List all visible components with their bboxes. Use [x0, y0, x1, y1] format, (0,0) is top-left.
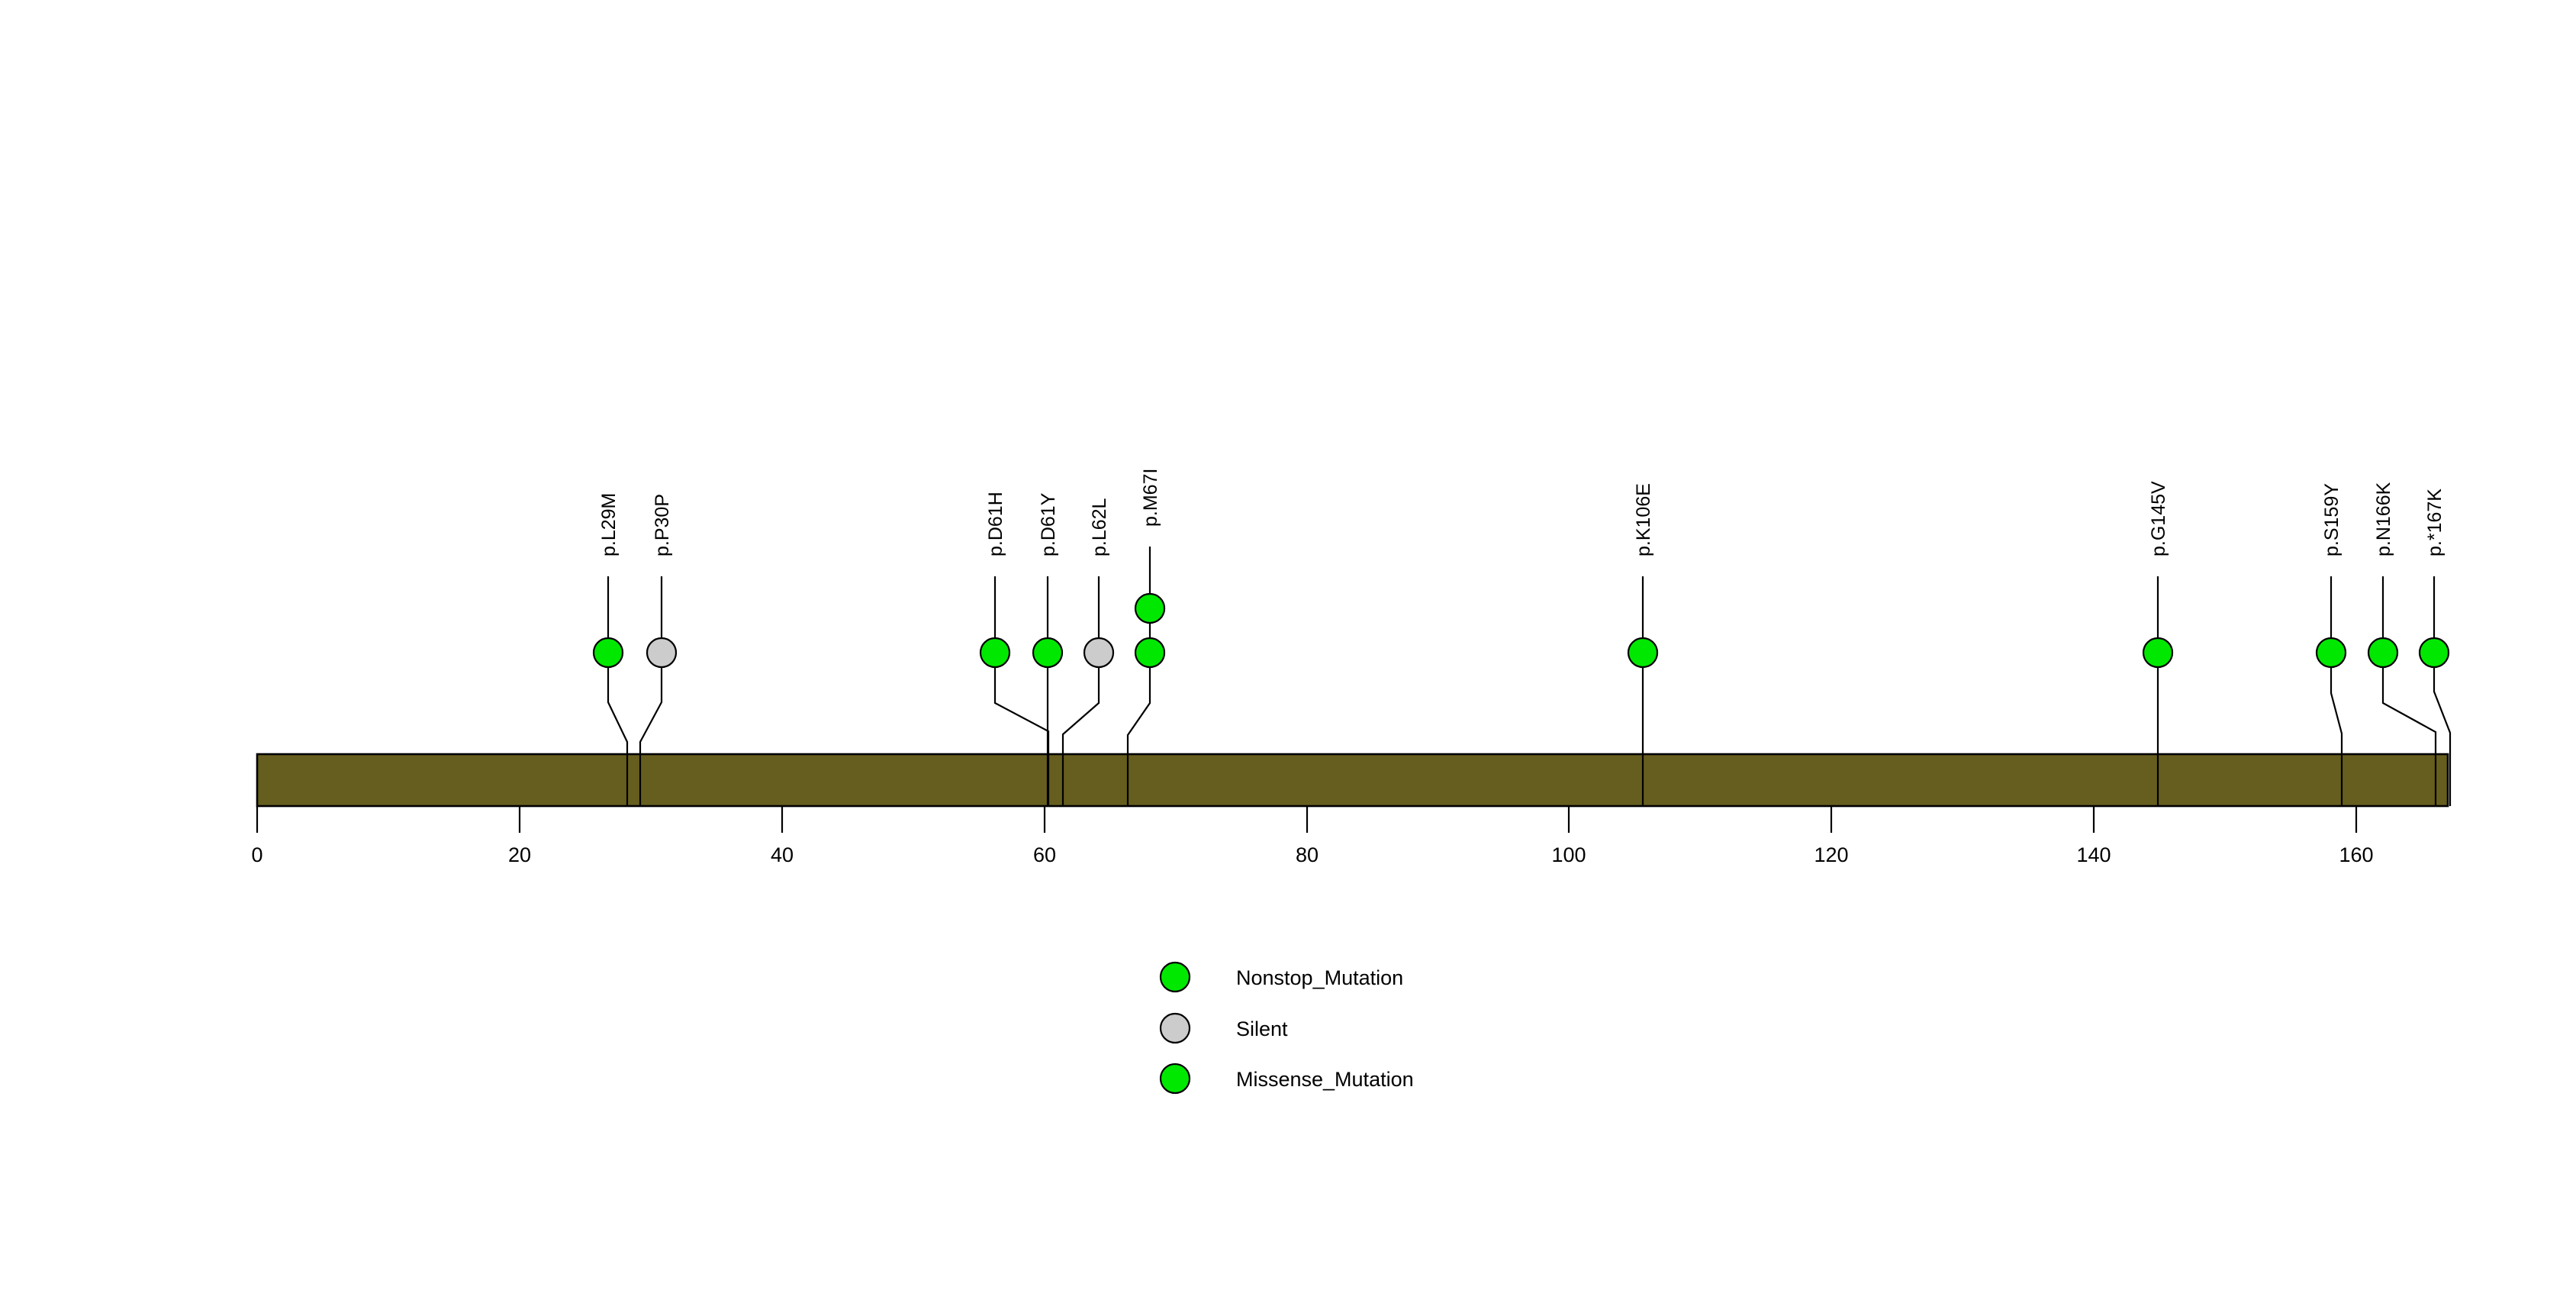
- lollipop-p-D61H[interactable]: [980, 638, 1009, 667]
- axis-ticks: [257, 806, 2356, 833]
- lollipop-plot: 0 20 40 60 80 100 120 140 160: [0, 0, 2576, 1290]
- mutation-label-p-K106E: p.K106E: [1633, 483, 1654, 556]
- protein-backbone-rect: [257, 754, 2448, 806]
- lollipop-p-S159Y[interactable]: [2317, 638, 2346, 667]
- lollipop-heads: [594, 594, 2449, 667]
- mutation-label-p-N166K: p.N166K: [2373, 482, 2394, 556]
- legend-swatch-missense-mutation: [1161, 1064, 1190, 1093]
- mutation-label-p-L29M: p.L29M: [598, 493, 620, 556]
- mutation-label-p-167K: p.*167K: [2424, 489, 2446, 556]
- lollipop-p-L62L[interactable]: [1084, 638, 1113, 667]
- mutation-label-p-M67I: p.M67I: [1140, 469, 1161, 527]
- lollipop-p-M67I-2[interactable]: [1135, 594, 1164, 623]
- legend-item-missense-mutation[interactable]: Missense_Mutation: [1161, 1064, 1414, 1093]
- lollipop-p-D61Y[interactable]: [1033, 638, 1062, 667]
- lollipop-p-M67I-1[interactable]: [1135, 638, 1164, 667]
- mutation-label-p-G145V: p.G145V: [2148, 481, 2169, 556]
- lollipop-p-G145V[interactable]: [2143, 638, 2172, 667]
- legend-item-nonstop-mutation[interactable]: Nonstop_Mutation: [1161, 963, 1403, 992]
- axis-tick-label-100: 100: [1551, 843, 1586, 866]
- mutation-label-p-D61Y: p.D61Y: [1038, 492, 1059, 556]
- axis-tick-label-140: 140: [2076, 843, 2111, 866]
- mutation-labels: p.L29M p.P30P p.D61H p.D61Y p.L62L p.M67…: [598, 469, 2446, 556]
- axis-tick-label-160: 160: [2339, 843, 2373, 866]
- legend-swatch-silent: [1161, 1014, 1190, 1043]
- mutation-label-p-S159Y: p.S159Y: [2321, 483, 2343, 556]
- axis-tick-label-60: 60: [1033, 843, 1056, 866]
- axis-tick-label-0: 0: [251, 843, 262, 866]
- legend: Nonstop_Mutation Silent Missense_Mutatio…: [1161, 963, 1414, 1093]
- lollipop-chart-canvas: 0 20 40 60 80 100 120 140 160: [0, 0, 2576, 1290]
- axis-tick-labels: 0 20 40 60 80 100 120 140 160: [251, 843, 2373, 866]
- legend-item-silent[interactable]: Silent: [1161, 1014, 1288, 1043]
- mutation-label-p-L62L: p.L62L: [1089, 498, 1110, 556]
- legend-label-missense-mutation: Missense_Mutation: [1236, 1068, 1414, 1091]
- mutation-label-p-D61H: p.D61H: [985, 492, 1006, 556]
- mutation-label-p-P30P: p.P30P: [652, 494, 673, 556]
- axis-tick-label-40: 40: [771, 843, 794, 866]
- lollipop-p-P30P[interactable]: [647, 638, 676, 667]
- lollipop-p-L29M[interactable]: [594, 638, 623, 667]
- lollipop-p-K106E[interactable]: [1628, 638, 1657, 667]
- lollipop-p-167K[interactable]: [2420, 638, 2449, 667]
- lollipop-p-N166K[interactable]: [2368, 638, 2397, 667]
- axis-tick-label-20: 20: [508, 843, 531, 866]
- legend-swatch-nonstop-mutation: [1161, 963, 1190, 992]
- legend-label-nonstop-mutation: Nonstop_Mutation: [1236, 966, 1403, 989]
- axis-tick-label-120: 120: [1814, 843, 1848, 866]
- legend-label-silent: Silent: [1236, 1017, 1288, 1040]
- axis-tick-label-80: 80: [1296, 843, 1319, 866]
